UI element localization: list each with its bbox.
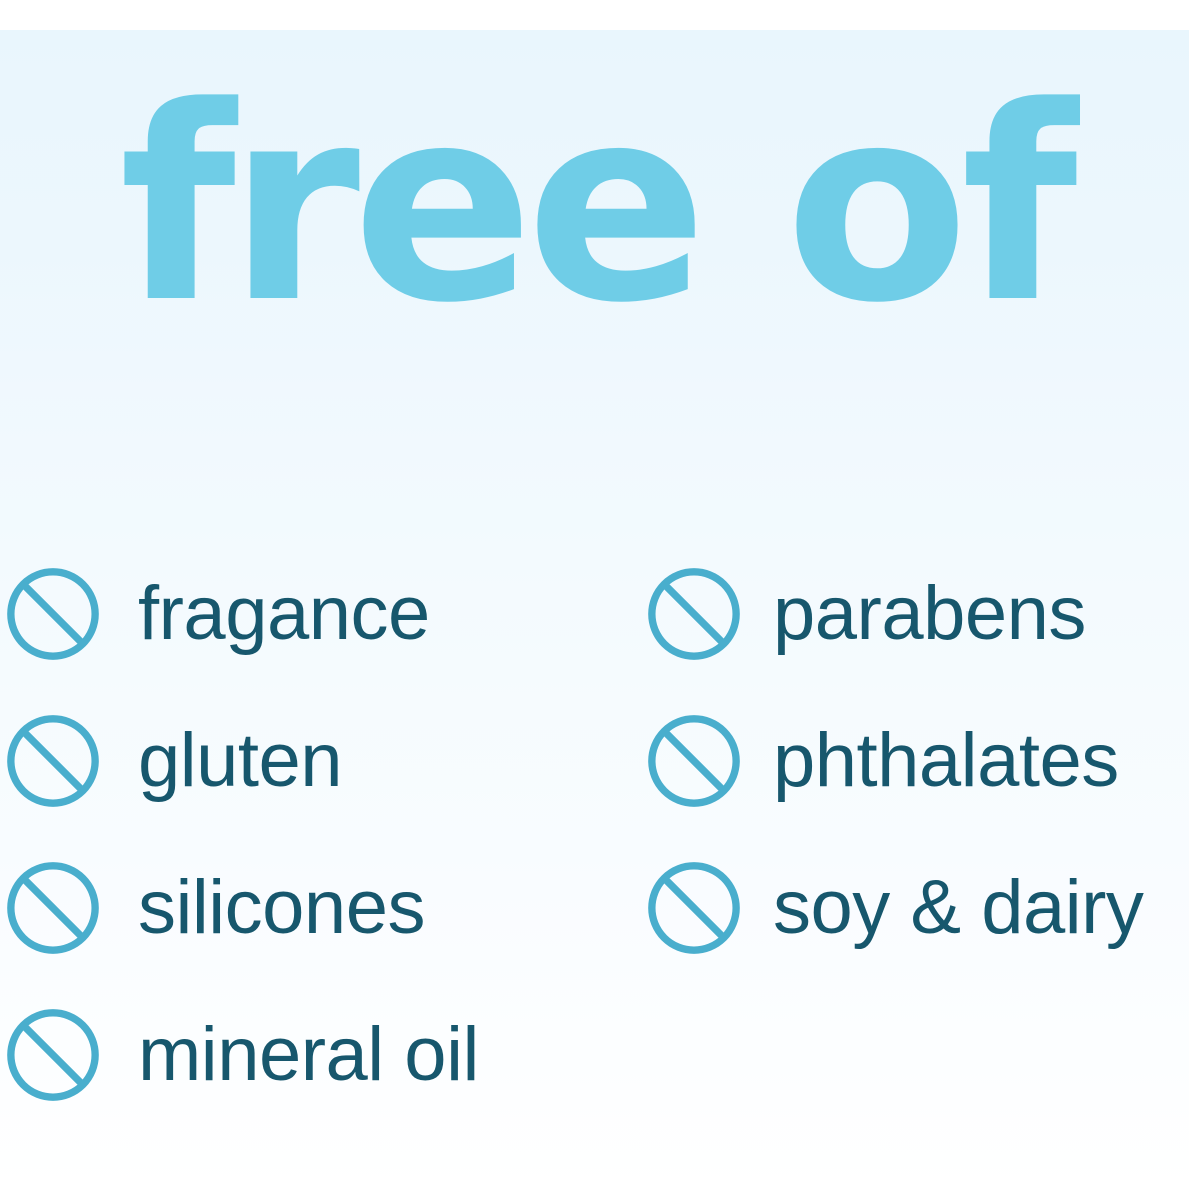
- free-of-graphic: free of fragance gluten: [0, 0, 1189, 1189]
- prohibition-icon: [645, 712, 743, 810]
- free-of-list: fragance gluten silicones: [0, 540, 1189, 1120]
- list-item-label: soy & dairy: [773, 870, 1143, 946]
- list-item-label: mineral oil: [138, 1017, 479, 1093]
- prohibition-icon: [4, 565, 102, 663]
- list-item: mineral oil: [4, 981, 624, 1128]
- prohibition-icon: [4, 859, 102, 957]
- prohibition-icon: [645, 859, 743, 957]
- list-item-label: phthalates: [773, 723, 1119, 799]
- list-item-label: fragance: [138, 576, 430, 652]
- page-title: free of: [0, 72, 1189, 340]
- list-item-label: gluten: [138, 723, 342, 799]
- list-item: phthalates: [645, 687, 1189, 834]
- list-item: gluten: [4, 687, 624, 834]
- free-of-column-right: parabens phthalates soy & dairy: [645, 540, 1189, 981]
- list-item: fragance: [4, 540, 624, 687]
- prohibition-icon: [645, 565, 743, 663]
- list-item-label: parabens: [773, 576, 1086, 652]
- list-item: parabens: [645, 540, 1189, 687]
- prohibition-icon: [4, 712, 102, 810]
- list-item-label: silicones: [138, 870, 425, 946]
- list-item: soy & dairy: [645, 834, 1189, 981]
- prohibition-icon: [4, 1006, 102, 1104]
- list-item: silicones: [4, 834, 624, 981]
- free-of-column-left: fragance gluten silicones: [4, 540, 624, 1128]
